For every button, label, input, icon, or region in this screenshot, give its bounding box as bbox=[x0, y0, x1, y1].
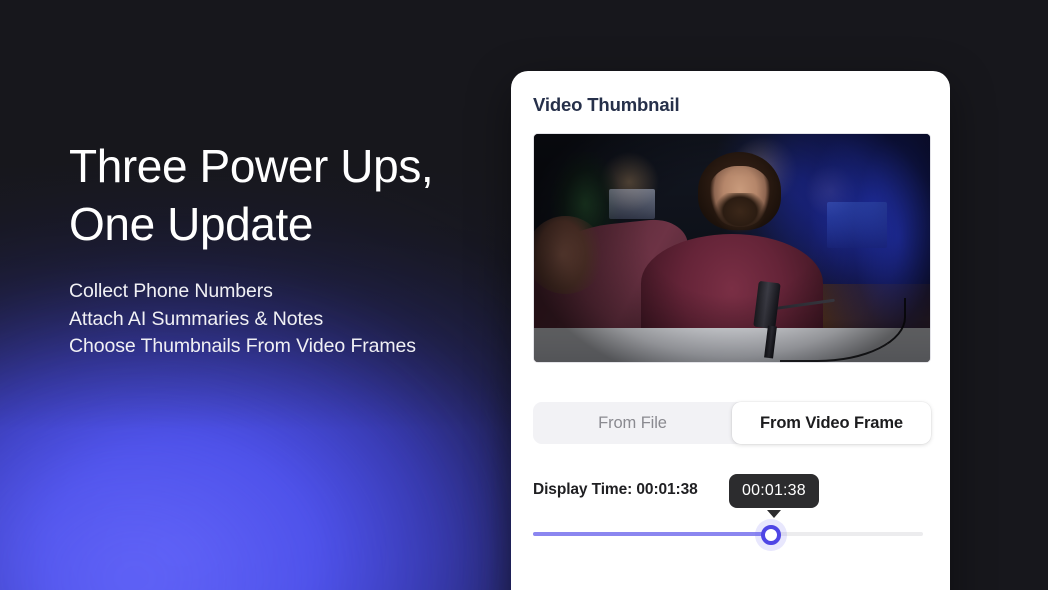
hero-copy: Three Power Ups, One Update Collect Phon… bbox=[69, 137, 499, 361]
video-frame-preview[interactable] bbox=[533, 133, 931, 363]
display-time-label: Display Time: 00:01:38 bbox=[533, 481, 698, 499]
vignette bbox=[534, 134, 930, 362]
thumbnail-source-segmented-control[interactable]: From File From Video Frame bbox=[533, 402, 931, 444]
feature-item-1: Collect Phone Numbers bbox=[69, 278, 499, 306]
slider-thumb[interactable] bbox=[761, 525, 781, 545]
tab-from-video-frame[interactable]: From Video Frame bbox=[732, 402, 931, 444]
display-time-row: Display Time: 00:01:38 00:01:38 bbox=[533, 476, 928, 510]
video-thumbnail-card: Video Thumbnail From File From Video Fra… bbox=[511, 71, 950, 590]
slider-value-tooltip: 00:01:38 bbox=[729, 474, 819, 508]
headline-line-2: One Update bbox=[69, 195, 499, 253]
slider-fill bbox=[533, 532, 771, 536]
feature-item-2: Attach AI Summaries & Notes bbox=[69, 306, 499, 334]
tooltip-arrow bbox=[767, 510, 781, 518]
headline-line-1: Three Power Ups, bbox=[69, 137, 499, 195]
card-title: Video Thumbnail bbox=[533, 94, 928, 116]
feature-list: Collect Phone Numbers Attach AI Summarie… bbox=[69, 278, 499, 361]
feature-item-3: Choose Thumbnails From Video Frames bbox=[69, 333, 499, 361]
video-time-slider[interactable] bbox=[533, 523, 923, 545]
tab-from-file[interactable]: From File bbox=[533, 402, 732, 444]
